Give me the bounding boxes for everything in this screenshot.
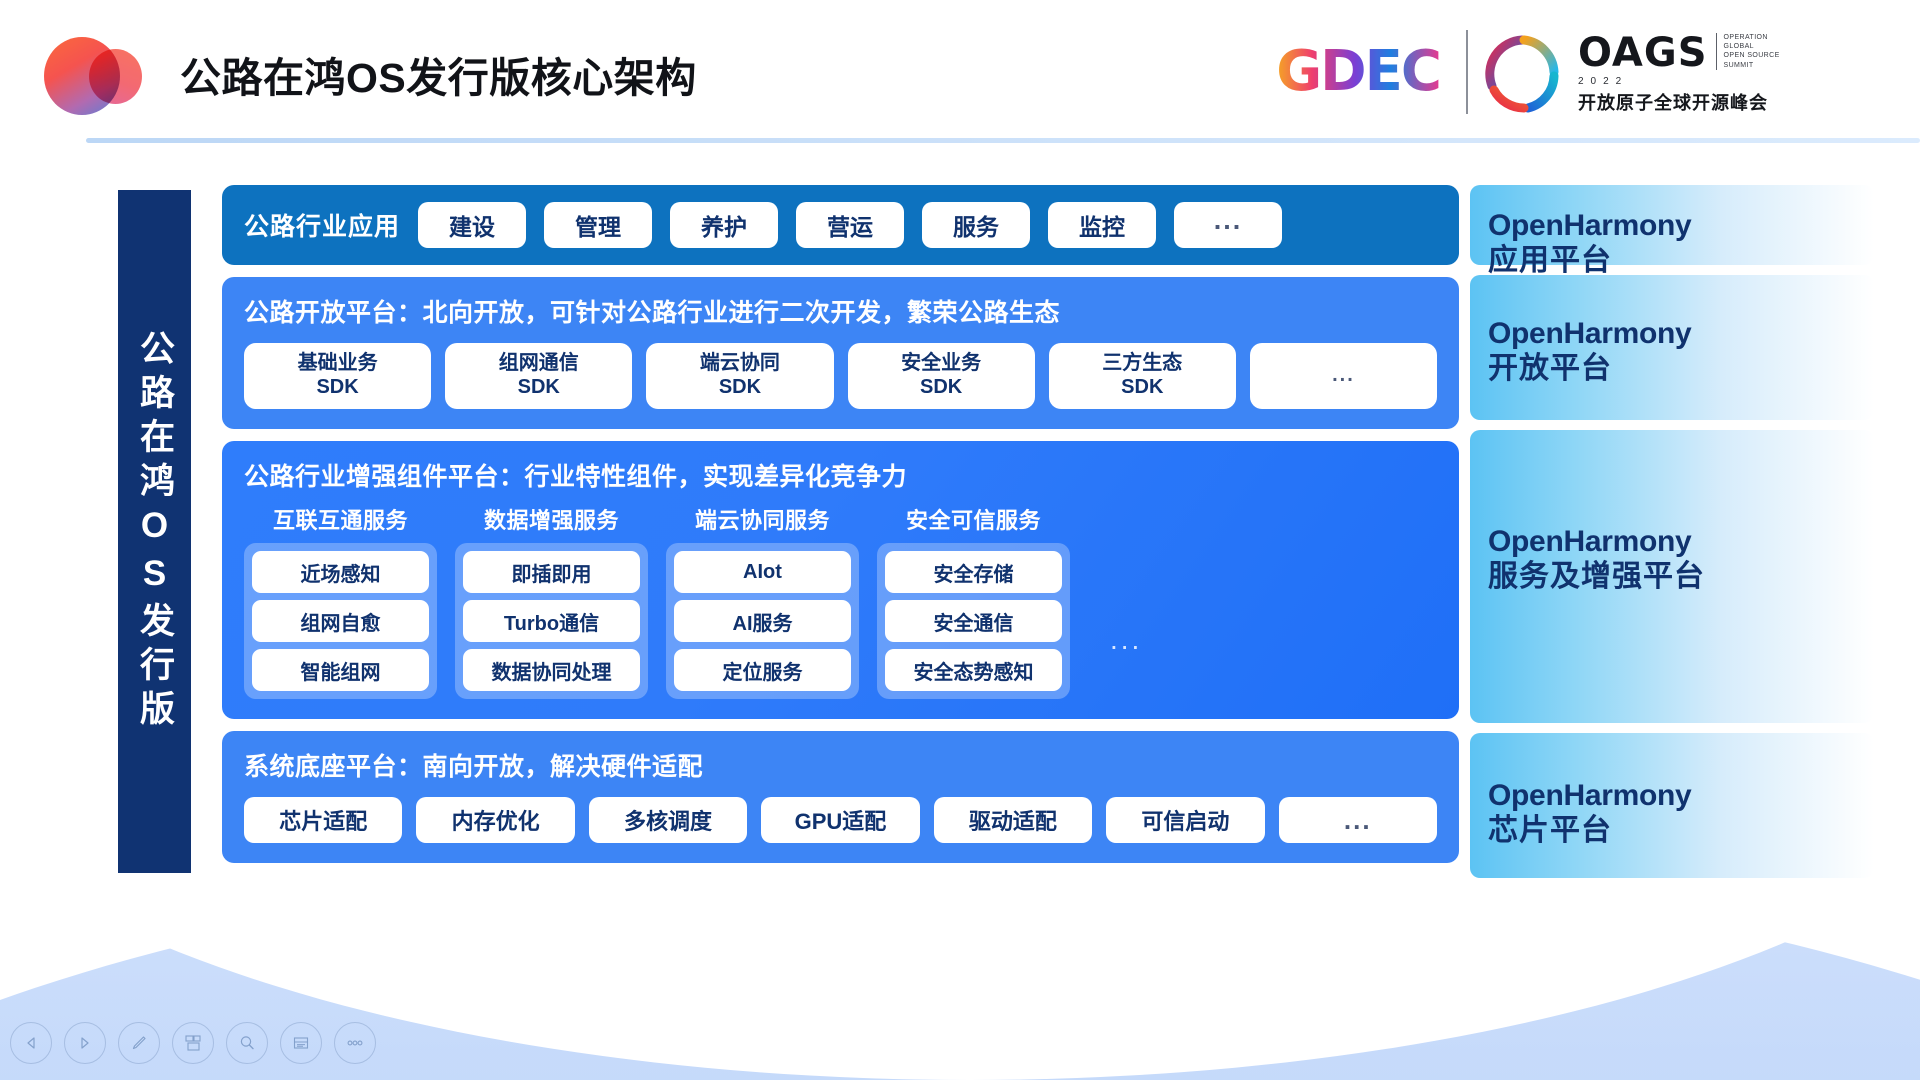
enhanced-column-body: 近场感知 组网自愈 智能组网	[244, 543, 437, 699]
enhanced-item-secure-storage[interactable]: 安全存储	[885, 551, 1062, 593]
platform-label-line1: OpenHarmony	[1488, 317, 1874, 352]
more-options-button[interactable]	[334, 1022, 376, 1064]
enhanced-more-indicator[interactable]: ...	[1110, 624, 1142, 656]
layer-apps-label: 公路行业应用	[244, 207, 400, 243]
slide-canvas: 公路在鸿OS发行版核心架构 GDEC	[0, 0, 1920, 1080]
app-chip-monitoring[interactable]: 监控	[1048, 202, 1156, 248]
platform-label-line1: OpenHarmony	[1488, 209, 1874, 244]
platform-panel-application: OpenHarmony 应用平台	[1470, 185, 1874, 265]
sdk-label-line1: 端云协同	[700, 352, 780, 376]
app-chip-maintenance[interactable]: 养护	[670, 202, 778, 248]
layer-system-base: 系统底座平台：南向开放，解决硬件适配 芯片适配 内存优化 多核调度 GPU适配 …	[222, 731, 1459, 863]
sdk-label-line2: SDK	[920, 376, 962, 400]
enhanced-columns: 互联互通服务 近场感知 组网自愈 智能组网 数据增强服务 即插即用 Turbo通…	[244, 503, 1437, 699]
sdk-label-more: ...	[1332, 364, 1355, 388]
oags-english-subtitle: OPERATION GLOBAL OPEN SOURCE SUMMIT	[1716, 33, 1780, 70]
app-chip-operation[interactable]: 营运	[796, 202, 904, 248]
brand-circles-logo-icon	[44, 33, 142, 117]
platform-label-line1: OpenHarmony	[1488, 525, 1874, 560]
layer-open-title: 公路开放平台：北向开放，可针对公路行业进行二次开发，繁荣公路生态	[244, 293, 1437, 329]
sdk-card-more[interactable]: ...	[1250, 343, 1437, 409]
enhanced-column-head: 端云协同服务	[666, 503, 859, 535]
slide-overview-button[interactable]	[172, 1022, 214, 1064]
enhanced-item-security-situational-awareness[interactable]: 安全态势感知	[885, 649, 1062, 691]
gdec-logo-text: GDEC	[1276, 39, 1440, 104]
enhanced-column-data: 数据增强服务 即插即用 Turbo通信 数据协同处理	[455, 503, 648, 699]
app-chip-management[interactable]: 管理	[544, 202, 652, 248]
logo-separator	[1466, 30, 1468, 114]
enhanced-column-head: 数据增强服务	[455, 503, 648, 535]
next-slide-button[interactable]	[64, 1022, 106, 1064]
base-chip-more[interactable]: ...	[1279, 797, 1437, 843]
enhanced-item-network-self-healing[interactable]: 组网自愈	[252, 600, 429, 642]
header-divider	[86, 138, 1920, 143]
vertical-title-bar: 公路在鸿OS发行版	[118, 190, 191, 873]
notes-panel-button[interactable]	[280, 1022, 322, 1064]
sdk-label-line2: SDK	[316, 376, 358, 400]
enhanced-column-security: 安全可信服务 安全存储 安全通信 安全态势感知	[877, 503, 1070, 699]
platform-panel-open: OpenHarmony 开放平台	[1470, 275, 1874, 420]
sdk-card-security-service[interactable]: 安全业务 SDK	[848, 343, 1035, 409]
platform-label-line2: 服务及增强平台	[1488, 560, 1874, 595]
sdk-card-third-party-ecosystem[interactable]: 三方生态 SDK	[1049, 343, 1236, 409]
triangle-left-icon	[23, 1035, 39, 1051]
enhanced-column-body: 安全存储 安全通信 安全态势感知	[877, 543, 1070, 699]
previous-slide-button[interactable]	[10, 1022, 52, 1064]
sdk-card-basic-service[interactable]: 基础业务 SDK	[244, 343, 431, 409]
enhanced-item-data-collab-processing[interactable]: 数据协同处理	[463, 649, 640, 691]
pen-icon	[130, 1034, 148, 1052]
openharmony-platform-column: OpenHarmony 应用平台 OpenHarmony 开放平台 OpenHa…	[1470, 185, 1874, 888]
grid-slides-icon	[184, 1034, 202, 1052]
layer-industry-applications: 公路行业应用 建设 管理 养护 营运 服务 监控 ...	[222, 185, 1459, 265]
sdk-label-line2: SDK	[1121, 376, 1163, 400]
enhanced-column-edge-cloud: 端云协同服务 AIot AI服务 定位服务	[666, 503, 859, 699]
sdk-card-edge-cloud[interactable]: 端云协同 SDK	[646, 343, 833, 409]
platform-panel-service-enhanced: OpenHarmony 服务及增强平台	[1470, 430, 1874, 723]
page-title: 公路在鸿OS发行版核心架构	[180, 44, 697, 104]
enhanced-item-ai-service[interactable]: AI服务	[674, 600, 851, 642]
vertical-title-label: 公路在鸿OS发行版	[137, 330, 172, 734]
enhanced-item-secure-communication[interactable]: 安全通信	[885, 600, 1062, 642]
base-chip-multicore-scheduling[interactable]: 多核调度	[589, 797, 747, 843]
logo-circle-small	[89, 49, 142, 104]
base-chip-driver-adaptation[interactable]: 驱动适配	[934, 797, 1092, 843]
oags-text-block: OAGS OPERATION GLOBAL OPEN SOURCE SUMMIT…	[1578, 33, 1780, 115]
sdk-label-line2: SDK	[518, 376, 560, 400]
enhanced-item-proximity-sensing[interactable]: 近场感知	[252, 551, 429, 593]
layer-open-platform: 公路开放平台：北向开放，可针对公路行业进行二次开发，繁荣公路生态 基础业务 SD…	[222, 277, 1459, 429]
enhanced-column-interconnect: 互联互通服务 近场感知 组网自愈 智能组网	[244, 503, 437, 699]
sdk-label-line1: 安全业务	[901, 352, 981, 376]
enhanced-column-head: 互联互通服务	[244, 503, 437, 535]
enhanced-column-body: AIot AI服务 定位服务	[666, 543, 859, 699]
platform-panel-chip: OpenHarmony 芯片平台	[1470, 733, 1874, 878]
notes-icon	[292, 1034, 310, 1052]
oags-chinese-name: 开放原子全球开源峰会	[1578, 89, 1780, 115]
enhanced-column-body: 即插即用 Turbo通信 数据协同处理	[455, 543, 648, 699]
platform-label-line2: 应用平台	[1488, 244, 1874, 279]
platform-label-line2: 芯片平台	[1488, 814, 1874, 849]
enhanced-item-turbo-communication[interactable]: Turbo通信	[463, 600, 640, 642]
base-chip-row: 芯片适配 内存优化 多核调度 GPU适配 驱动适配 可信启动 ...	[244, 797, 1437, 843]
sdk-label-line1: 基础业务	[298, 352, 378, 376]
zoom-tool-button[interactable]	[226, 1022, 268, 1064]
magnifier-icon	[238, 1034, 256, 1052]
oags-ring-icon	[1480, 32, 1564, 116]
sdk-label-line2: SDK	[719, 376, 761, 400]
sdk-card-network-communication[interactable]: 组网通信 SDK	[445, 343, 632, 409]
enhanced-item-aiot[interactable]: AIot	[674, 551, 851, 593]
gdec-logo: GDEC	[1276, 36, 1440, 106]
app-chip-service[interactable]: 服务	[922, 202, 1030, 248]
sdk-card-row: 基础业务 SDK 组网通信 SDK 端云协同 SDK 安全业务 SDK 三方生态	[244, 343, 1437, 409]
layer-enhanced-components: 公路行业增强组件平台：行业特性组件，实现差异化竞争力 互联互通服务 近场感知 组…	[222, 441, 1459, 719]
enhanced-item-positioning-service[interactable]: 定位服务	[674, 649, 851, 691]
ellipsis-icon	[345, 1034, 365, 1052]
enhanced-item-plug-and-play[interactable]: 即插即用	[463, 551, 640, 593]
oags-wordmark: OAGS	[1578, 33, 1708, 73]
pen-tool-button[interactable]	[118, 1022, 160, 1064]
oags-logo: OAGS OPERATION GLOBAL OPEN SOURCE SUMMIT…	[1480, 28, 1872, 120]
sdk-label-line1: 组网通信	[499, 352, 579, 376]
base-chip-memory-optimization[interactable]: 内存优化	[416, 797, 574, 843]
enhanced-item-smart-networking[interactable]: 智能组网	[252, 649, 429, 691]
platform-label-line2: 开放平台	[1488, 352, 1874, 387]
app-chip-more[interactable]: ...	[1174, 202, 1282, 248]
triangle-right-icon	[77, 1035, 93, 1051]
app-chip-construction[interactable]: 建设	[418, 202, 526, 248]
oags-year: 2022	[1578, 76, 1780, 87]
base-chip-trusted-boot[interactable]: 可信启动	[1106, 797, 1264, 843]
sdk-label-line1: 三方生态	[1102, 352, 1182, 376]
presentation-toolbar	[10, 1022, 376, 1064]
layer-base-title: 系统底座平台：南向开放，解决硬件适配	[244, 747, 1437, 783]
architecture-stack: 公路行业应用 建设 管理 养护 营运 服务 监控 ... 公路开放平台：北向开放…	[222, 185, 1459, 863]
base-chip-gpu-adaptation[interactable]: GPU适配	[761, 797, 919, 843]
enhanced-column-head: 安全可信服务	[877, 503, 1070, 535]
layer-enhanced-title: 公路行业增强组件平台：行业特性组件，实现差异化竞争力	[244, 457, 1437, 493]
platform-label-line1: OpenHarmony	[1488, 779, 1874, 814]
slide-header: 公路在鸿OS发行版核心架构 GDEC	[0, 0, 1920, 150]
base-chip-chip-adaptation[interactable]: 芯片适配	[244, 797, 402, 843]
